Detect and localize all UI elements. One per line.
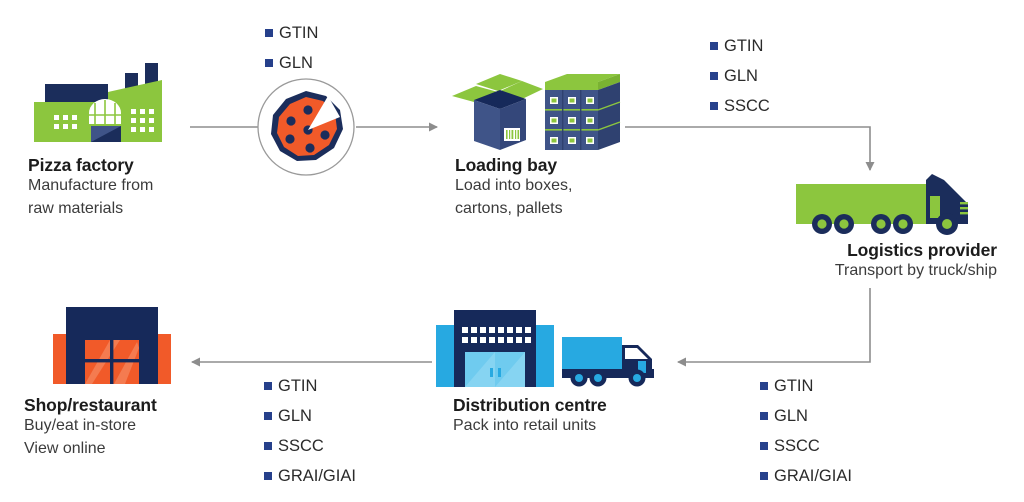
node-shop-restaurant-text: Shop/restaurant Buy/eat in-store View on… [24,395,157,461]
node-title-loading-bay: Loading bay [455,155,572,175]
node-desc-loading-bay-line2: cartons, pallets [455,198,572,221]
node-desc-distribution-centre-line1: Pack into retail units [453,415,607,438]
bullet-icon [760,382,768,390]
legend-item: SSCC [264,431,356,461]
bullet-icon [760,412,768,420]
bullet-icon [710,72,718,80]
legend-distribution-output: GTIN GLN SSCC GRAI/GIAI [264,371,356,491]
bullet-icon [264,472,272,480]
bullet-icon [264,412,272,420]
open-carton-icon [452,74,543,150]
bullet-icon [760,472,768,480]
bullet-icon [265,59,273,67]
delivery-truck-icon [562,337,654,387]
node-desc-shop-restaurant-line2: View online [24,438,157,461]
legend-item: GRAI/GIAI [760,461,852,491]
connector-logistics-to-distribution [678,288,870,362]
legend-label: SSCC [278,438,324,455]
legend-label: GLN [724,68,758,85]
warehouse-icon [436,310,554,387]
legend-logistics-output: GTIN GLN SSCC GRAI/GIAI [760,371,852,491]
legend-label: GRAI/GIAI [278,468,356,485]
node-title-shop-restaurant: Shop/restaurant [24,395,157,415]
legend-label: GLN [774,408,808,425]
node-title-pizza-factory: Pizza factory [28,155,153,175]
connector-loading-bay-to-logistics [625,127,870,170]
bullet-icon [710,42,718,50]
node-loading-bay-text: Loading bay Load into boxes, cartons, pa… [455,155,572,221]
legend-label: GTIN [724,38,763,55]
bullet-icon [265,29,273,37]
storefront-icon [40,302,185,390]
legend-factory-output: GTIN GLN [265,18,318,78]
warehouse-truck-icon [432,305,672,390]
legend-item: GLN [760,401,852,431]
legend-item: GLN [264,401,356,431]
node-title-logistics-provider: Logistics provider [795,240,997,260]
legend-item: GLN [710,61,770,91]
legend-label: GLN [279,55,313,72]
legend-item: SSCC [760,431,852,461]
node-distribution-centre-text: Distribution centre Pack into retail uni… [453,395,607,438]
legend-label: SSCC [724,98,770,115]
node-desc-pizza-factory-line2: raw materials [28,198,153,221]
node-pizza-factory-text: Pizza factory Manufacture from raw mater… [28,155,153,221]
legend-item: GLN [265,48,318,78]
legend-item: GRAI/GIAI [264,461,356,491]
node-desc-shop-restaurant-line1: Buy/eat in-store [24,415,157,438]
node-title-distribution-centre: Distribution centre [453,395,607,415]
node-desc-pizza-factory-line1: Manufacture from [28,175,153,198]
legend-label: SSCC [774,438,820,455]
node-logistics-provider-text: Logistics provider Transport by truck/sh… [795,240,997,283]
legend-item: GTIN [264,371,356,401]
boxes-pallet-icon [440,62,625,157]
supply-chain-diagram: Pizza factory Manufacture from raw mater… [0,0,1024,502]
legend-item: GTIN [265,18,318,48]
node-desc-loading-bay-line1: Load into boxes, [455,175,572,198]
semi-truck-icon [792,172,977,238]
legend-label: GTIN [774,378,813,395]
bullet-icon [760,442,768,450]
legend-loading-bay-output: GTIN GLN SSCC [710,31,770,121]
bullet-icon [264,382,272,390]
pizza-slice-icon [256,77,356,177]
legend-item: GTIN [760,371,852,401]
legend-item: SSCC [710,91,770,121]
legend-label: GTIN [279,25,318,42]
legend-item: GTIN [710,31,770,61]
bullet-icon [710,102,718,110]
legend-label: GTIN [278,378,317,395]
legend-label: GRAI/GIAI [774,468,852,485]
pallet-stack-icon [545,74,620,150]
node-desc-logistics-provider-line1: Transport by truck/ship [795,260,997,283]
legend-label: GLN [278,408,312,425]
bullet-icon [264,442,272,450]
factory-icon [26,58,186,148]
